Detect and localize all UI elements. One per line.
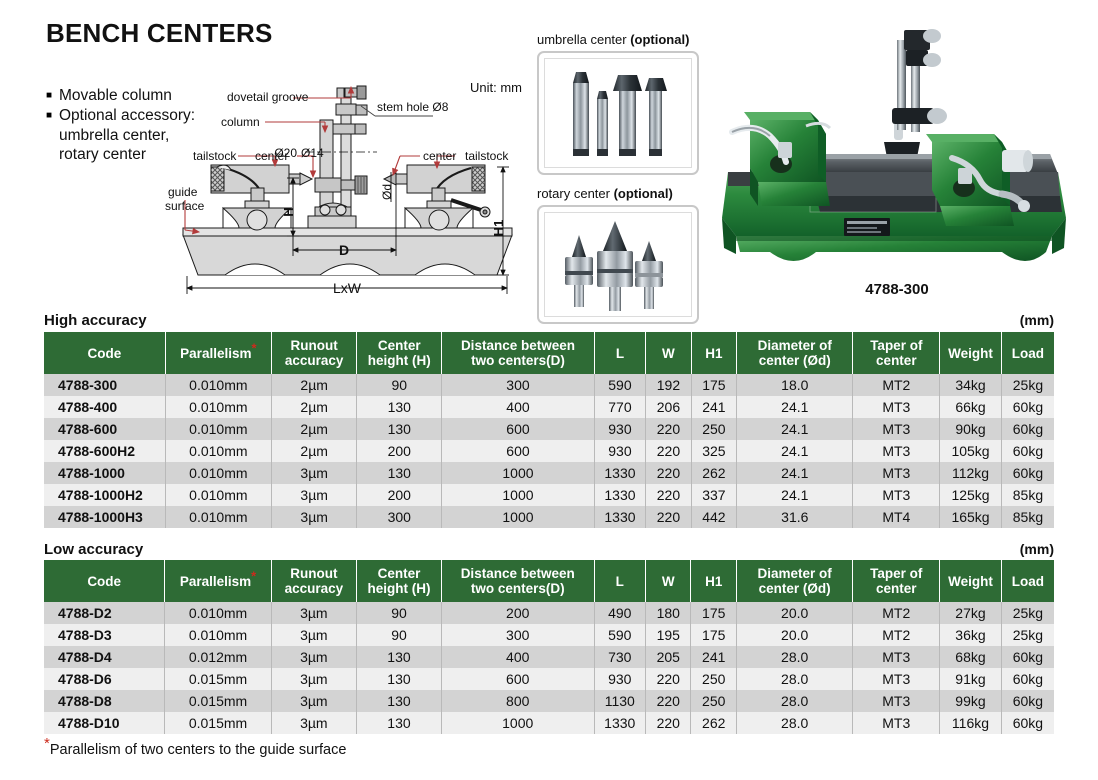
cell-value: 800 <box>441 690 594 712</box>
cell-value: 27kg <box>940 602 1002 624</box>
cell-value: 2µm <box>271 396 356 418</box>
cell-value: 590 <box>594 374 646 396</box>
cell-value: 3µm <box>271 602 356 624</box>
dim-Od: Ød <box>380 184 394 200</box>
cell-value: 24.1 <box>737 484 853 506</box>
col-header-l: L <box>594 332 646 374</box>
cell-value: 105kg <box>940 440 1002 462</box>
cell-value: 130 <box>357 418 442 440</box>
cell-value: 130 <box>357 462 442 484</box>
cell-value: 90 <box>357 624 442 646</box>
cell-value: 18.0 <box>737 374 853 396</box>
cell-value: 25kg <box>1001 624 1054 646</box>
cell-value: MT3 <box>853 440 940 462</box>
table-row: 4788-D20.010mm3µm9020049018017520.0MT227… <box>44 602 1054 624</box>
cell-value: MT3 <box>853 484 940 506</box>
cell-value: 130 <box>357 396 442 418</box>
cell-value: 590 <box>594 624 646 646</box>
cell-value: MT3 <box>853 690 940 712</box>
cell-value: MT3 <box>853 646 940 668</box>
cell-value: 68kg <box>940 646 1002 668</box>
cell-value: 220 <box>646 506 691 528</box>
cell-value: 300 <box>441 624 594 646</box>
cell-value: 85kg <box>1001 484 1054 506</box>
cell-value: 3µm <box>271 624 356 646</box>
cell-code: 4788-400 <box>44 396 165 418</box>
cell-value: 116kg <box>940 712 1002 734</box>
footnote-text: Parallelism of two centers to the guide … <box>50 742 347 758</box>
table-title-high-accuracy: High accuracy <box>44 312 147 329</box>
cell-value: 24.1 <box>737 418 853 440</box>
table-unit-low-accuracy: (mm) <box>1020 541 1054 557</box>
umbrella-center-image <box>544 58 692 168</box>
cell-value: 250 <box>691 418 736 440</box>
cell-value: 220 <box>646 712 691 734</box>
cell-value: 0.015mm <box>165 712 271 734</box>
label-guide-a: guide <box>168 185 198 199</box>
cell-code: 4788-1000H2 <box>44 484 165 506</box>
footnote: *Parallelism of two centers to the guide… <box>44 742 346 758</box>
rotary-center-frame <box>537 205 699 324</box>
cell-code: 4788-600 <box>44 418 165 440</box>
bullet-square-icon: ■ <box>46 86 59 106</box>
col-header-taper: Taper ofcenter <box>853 332 940 374</box>
cell-value: 205 <box>646 646 691 668</box>
asterisk-icon: * <box>251 568 256 583</box>
cell-value: 0.010mm <box>165 374 271 396</box>
cell-value: 60kg <box>1001 440 1054 462</box>
cell-value: 24.1 <box>737 462 853 484</box>
cell-code: 4788-300 <box>44 374 165 396</box>
cell-value: 99kg <box>940 690 1002 712</box>
cell-value: 90 <box>357 602 442 624</box>
cell-value: 325 <box>691 440 736 462</box>
cell-value: 220 <box>646 418 691 440</box>
cell-value: 220 <box>646 690 691 712</box>
umbrella-center-block: umbrella center (optional) <box>537 32 699 175</box>
dim-H1: H1 <box>491 220 506 237</box>
table-row: 4788-4000.010mm2µm13040077020624124.1MT3… <box>44 396 1054 418</box>
label-stem-hole: stem hole Ø8 <box>377 100 449 114</box>
label-dovetail-groove: dovetail groove <box>227 90 309 104</box>
col-header-weight: Weight <box>940 560 1002 602</box>
cell-value: 31.6 <box>737 506 853 528</box>
table-row: 4788-D80.015mm3µm130800113022025028.0MT3… <box>44 690 1054 712</box>
rotary-center-block: rotary center (optional) <box>537 186 699 324</box>
umbrella-center-label: umbrella center <box>537 32 630 47</box>
cell-value: 0.010mm <box>165 396 271 418</box>
table-row: 4788-3000.010mm2µm9030059019217518.0MT23… <box>44 374 1054 396</box>
cell-value: 34kg <box>940 374 1002 396</box>
rotary-center-caption: rotary center (optional) <box>537 186 699 201</box>
cell-value: 60kg <box>1001 462 1054 484</box>
cell-value: 1330 <box>594 506 646 528</box>
cell-code: 4788-D3 <box>44 624 165 646</box>
col-header-runout-accuracy: Runoutaccuracy <box>271 560 356 602</box>
cell-value: 130 <box>357 712 442 734</box>
cell-value: 2µm <box>271 418 356 440</box>
umbrella-optional-tag: (optional) <box>630 32 689 47</box>
cell-value: 192 <box>646 374 691 396</box>
cell-value: 28.0 <box>736 712 852 734</box>
page-title: BENCH CENTERS <box>46 18 273 49</box>
cell-value: 3µm <box>271 462 356 484</box>
table-row: 4788-D60.015mm3µm13060093022025028.0MT39… <box>44 668 1054 690</box>
cell-value: 0.010mm <box>165 602 271 624</box>
cell-value: 175 <box>691 602 736 624</box>
table-row: 4788-D40.012mm3µm13040073020524128.0MT36… <box>44 646 1054 668</box>
cell-value: 180 <box>646 602 691 624</box>
cell-value: 400 <box>442 396 594 418</box>
col-header-center-height: Centerheight (H) <box>357 332 442 374</box>
label-center-left: center <box>255 149 288 163</box>
table-row: 4788-10000.010mm3µm1301000133022026224.1… <box>44 462 1054 484</box>
bullet-square-icon: ■ <box>46 106 59 126</box>
cell-value: 1000 <box>442 462 594 484</box>
cell-value: 250 <box>691 668 736 690</box>
dim-D: D <box>339 242 349 258</box>
catalog-page: BENCH CENTERS ■ Movable column ■ Optiona… <box>0 0 1098 780</box>
cell-value: MT3 <box>853 462 940 484</box>
cell-value: 28.0 <box>736 690 852 712</box>
cell-code: 4788-1000H3 <box>44 506 165 528</box>
col-header-w: W <box>646 560 691 602</box>
cell-value: 0.010mm <box>165 484 271 506</box>
cell-value: 112kg <box>940 462 1002 484</box>
cell-value: 300 <box>442 374 594 396</box>
cell-value: MT3 <box>853 712 940 734</box>
cell-value: 200 <box>357 484 442 506</box>
cell-value: MT2 <box>853 624 940 646</box>
cell-value: 24.1 <box>737 440 853 462</box>
cell-value: 60kg <box>1001 668 1054 690</box>
cell-value: 91kg <box>940 668 1002 690</box>
rotary-center-image <box>544 212 692 317</box>
cell-value: 0.010mm <box>165 462 271 484</box>
cell-value: 3µm <box>271 668 356 690</box>
cell-value: 0.015mm <box>165 668 271 690</box>
cell-value: MT3 <box>853 396 940 418</box>
cell-value: 60kg <box>1001 418 1054 440</box>
col-header-code: Code <box>44 560 165 602</box>
cell-value: 1000 <box>441 712 594 734</box>
cell-value: 490 <box>594 602 646 624</box>
table-row: 4788-1000H30.010mm3µm3001000133022044231… <box>44 506 1054 528</box>
cell-value: 1330 <box>594 462 646 484</box>
cell-code: 4788-D2 <box>44 602 165 624</box>
cell-value: MT3 <box>853 668 940 690</box>
cell-value: 1000 <box>442 506 594 528</box>
umbrella-center-frame <box>537 51 699 175</box>
cell-value: 0.010mm <box>165 624 271 646</box>
col-header-parallelism: Parallelism* <box>165 560 271 602</box>
table-row: 4788-D30.010mm3µm9030059019517520.0MT236… <box>44 624 1054 646</box>
cell-value: 24.1 <box>737 396 853 418</box>
cell-value: 220 <box>646 484 691 506</box>
cell-value: 3µm <box>271 712 356 734</box>
label-dia14: Ø14 <box>301 146 324 160</box>
cell-value: 0.015mm <box>165 690 271 712</box>
col-header-distance: Distance betweentwo centers(D) <box>441 560 594 602</box>
cell-value: 200 <box>441 602 594 624</box>
cell-value: 220 <box>646 440 691 462</box>
dim-LxW: LxW <box>333 280 362 296</box>
table-title-low-accuracy: Low accuracy <box>44 541 143 558</box>
cell-value: 241 <box>691 396 736 418</box>
col-header-center-height: Centerheight (H) <box>357 560 442 602</box>
col-header-load: Load <box>1001 560 1054 602</box>
col-header-parallelism: Parallelism* <box>165 332 271 374</box>
product-photo <box>706 22 1088 280</box>
cell-value: 28.0 <box>736 668 852 690</box>
cell-value: 60kg <box>1001 396 1054 418</box>
cell-value: 130 <box>357 646 442 668</box>
cell-value: 25kg <box>1001 602 1054 624</box>
table-low-accuracy: Code Parallelism* Runoutaccuracy Centerh… <box>44 560 1054 734</box>
cell-value: 262 <box>691 712 736 734</box>
cell-value: 730 <box>594 646 646 668</box>
cell-value: 600 <box>442 418 594 440</box>
cell-value: 1330 <box>594 484 646 506</box>
cell-value: 20.0 <box>736 602 852 624</box>
col-header-h1: H1 <box>691 332 736 374</box>
cell-value: 0.010mm <box>165 506 271 528</box>
cell-value: 36kg <box>940 624 1002 646</box>
cell-code: 4788-1000 <box>44 462 165 484</box>
cell-value: 165kg <box>940 506 1002 528</box>
cell-value: 175 <box>691 624 736 646</box>
cell-value: 1330 <box>594 712 646 734</box>
product-photo-caption: 4788-300 <box>706 281 1088 298</box>
table-row: 4788-6000.010mm2µm13060093022025024.1MT3… <box>44 418 1054 440</box>
col-header-diameter: Diameter ofcenter (Ød) <box>736 560 852 602</box>
cell-value: 90kg <box>940 418 1002 440</box>
label-tailstock-right: tailstock <box>465 149 509 163</box>
cell-value: 220 <box>646 668 691 690</box>
cell-value: 130 <box>357 690 442 712</box>
cell-value: 200 <box>357 440 442 462</box>
table-header-row: Code Parallelism* Runoutaccuracy Centerh… <box>44 332 1054 374</box>
technical-drawing: dovetail groove column stem hole Ø8 Ø20 … <box>165 60 530 300</box>
asterisk-icon: * <box>251 340 256 355</box>
cell-value: 250 <box>691 690 736 712</box>
umbrella-center-caption: umbrella center (optional) <box>537 32 699 47</box>
cell-value: 1000 <box>442 484 594 506</box>
col-header-taper: Taper ofcenter <box>853 560 940 602</box>
cell-value: 2µm <box>271 374 356 396</box>
col-header-runout-accuracy: Runoutaccuracy <box>271 332 356 374</box>
col-header-w: W <box>646 332 691 374</box>
cell-value: 0.010mm <box>165 418 271 440</box>
cell-code: 4788-600H2 <box>44 440 165 462</box>
cell-value: 60kg <box>1001 712 1054 734</box>
cell-value: 85kg <box>1001 506 1054 528</box>
cell-value: 1130 <box>594 690 646 712</box>
cell-value: 175 <box>691 374 736 396</box>
col-header-load: Load <box>1001 332 1054 374</box>
cell-value: 930 <box>594 418 646 440</box>
cell-value: 2µm <box>271 440 356 462</box>
cell-value: 0.012mm <box>165 646 271 668</box>
cell-value: 25kg <box>1001 374 1054 396</box>
cell-value: 600 <box>442 440 594 462</box>
cell-value: 337 <box>691 484 736 506</box>
cell-value: MT3 <box>853 418 940 440</box>
rotary-optional-tag: (optional) <box>614 186 673 201</box>
table-body-low-accuracy: 4788-D20.010mm3µm9020049018017520.0MT227… <box>44 602 1054 734</box>
table-header-row: Code Parallelism* Runoutaccuracy Centerh… <box>44 560 1054 602</box>
cell-value: 130 <box>357 668 442 690</box>
col-header-h1: H1 <box>691 560 736 602</box>
cell-value: MT2 <box>853 602 940 624</box>
cell-value: 400 <box>441 646 594 668</box>
cell-value: 442 <box>691 506 736 528</box>
cell-value: 20.0 <box>736 624 852 646</box>
label-center-right: center <box>423 149 456 163</box>
cell-value: MT4 <box>853 506 940 528</box>
cell-value: 60kg <box>1001 646 1054 668</box>
cell-value: 3µm <box>271 506 356 528</box>
table-row: 4788-D100.015mm3µm1301000133022026228.0M… <box>44 712 1054 734</box>
cell-value: 90 <box>357 374 442 396</box>
cell-value: 300 <box>357 506 442 528</box>
cell-value: 220 <box>646 462 691 484</box>
label-column: column <box>221 115 260 129</box>
col-header-code: Code <box>44 332 165 374</box>
cell-value: 3µm <box>271 690 356 712</box>
cell-value: 66kg <box>940 396 1002 418</box>
cell-code: 4788-D10 <box>44 712 165 734</box>
cell-value: 3µm <box>271 646 356 668</box>
cell-value: MT2 <box>853 374 940 396</box>
cell-value: 930 <box>594 440 646 462</box>
cell-value: 262 <box>691 462 736 484</box>
rotary-center-label: rotary center <box>537 186 614 201</box>
col-header-distance: Distance betweentwo centers(D) <box>442 332 594 374</box>
table-body-high-accuracy: 4788-3000.010mm2µm9030059019217518.0MT23… <box>44 374 1054 528</box>
col-header-weight: Weight <box>940 332 1002 374</box>
table-row: 4788-600H20.010mm2µm20060093022032524.1M… <box>44 440 1054 462</box>
label-tailstock-left: tailstock <box>193 149 237 163</box>
table-row: 4788-1000H20.010mm3µm2001000133022033724… <box>44 484 1054 506</box>
table-high-accuracy: Code Parallelism* Runoutaccuracy Centerh… <box>44 332 1054 528</box>
col-header-l: L <box>594 560 646 602</box>
table-unit-high-accuracy: (mm) <box>1020 312 1054 328</box>
dim-H: H <box>281 207 296 216</box>
cell-value: 241 <box>691 646 736 668</box>
cell-value: 600 <box>441 668 594 690</box>
cell-value: 0.010mm <box>165 440 271 462</box>
cell-code: 4788-D6 <box>44 668 165 690</box>
cell-value: 60kg <box>1001 690 1054 712</box>
cell-value: 3µm <box>271 484 356 506</box>
cell-value: 28.0 <box>736 646 852 668</box>
cell-code: 4788-D8 <box>44 690 165 712</box>
label-guide-b: surface <box>165 199 205 213</box>
cell-value: 206 <box>646 396 691 418</box>
cell-value: 195 <box>646 624 691 646</box>
cell-value: 125kg <box>940 484 1002 506</box>
cell-code: 4788-D4 <box>44 646 165 668</box>
col-header-diameter: Diameter ofcenter (Ød) <box>737 332 853 374</box>
cell-value: 770 <box>594 396 646 418</box>
cell-value: 930 <box>594 668 646 690</box>
